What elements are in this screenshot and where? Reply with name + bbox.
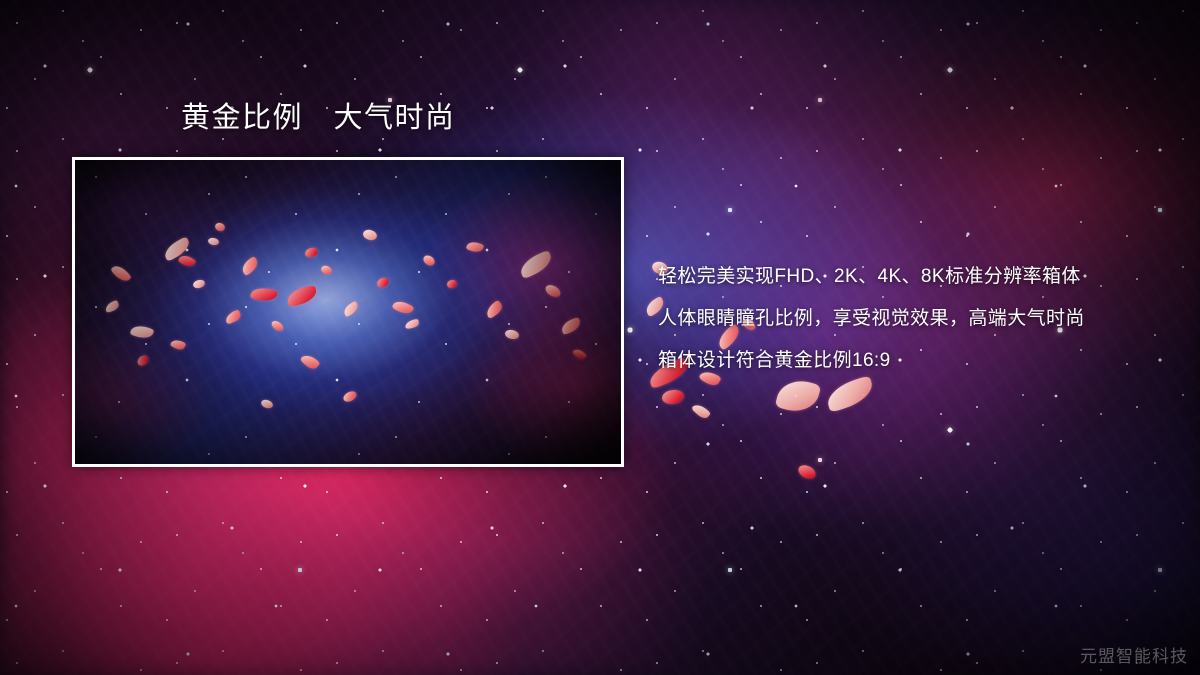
slide-canvas: 黄金比例 大气时尚 轻松完美实现FHD、2K、4K、8K标准分辨率箱体 人体眼睛… xyxy=(0,0,1200,675)
body-line-3: 箱体设计符合黄金比例16:9 xyxy=(658,340,1158,382)
body-line-1: 轻松完美实现FHD、2K、4K、8K标准分辨率箱体 xyxy=(658,256,1158,298)
watermark: 元盟智能科技 xyxy=(1080,642,1188,667)
page-title: 黄金比例 大气时尚 xyxy=(181,100,456,136)
framed-image-vignette xyxy=(75,160,621,464)
body-text-block: 轻松完美实现FHD、2K、4K、8K标准分辨率箱体 人体眼睛瞳孔比例，享受视觉效… xyxy=(658,256,1158,382)
body-line-2: 人体眼睛瞳孔比例，享受视觉效果，高端大气时尚 xyxy=(658,298,1158,340)
framed-image[interactable] xyxy=(72,157,624,467)
